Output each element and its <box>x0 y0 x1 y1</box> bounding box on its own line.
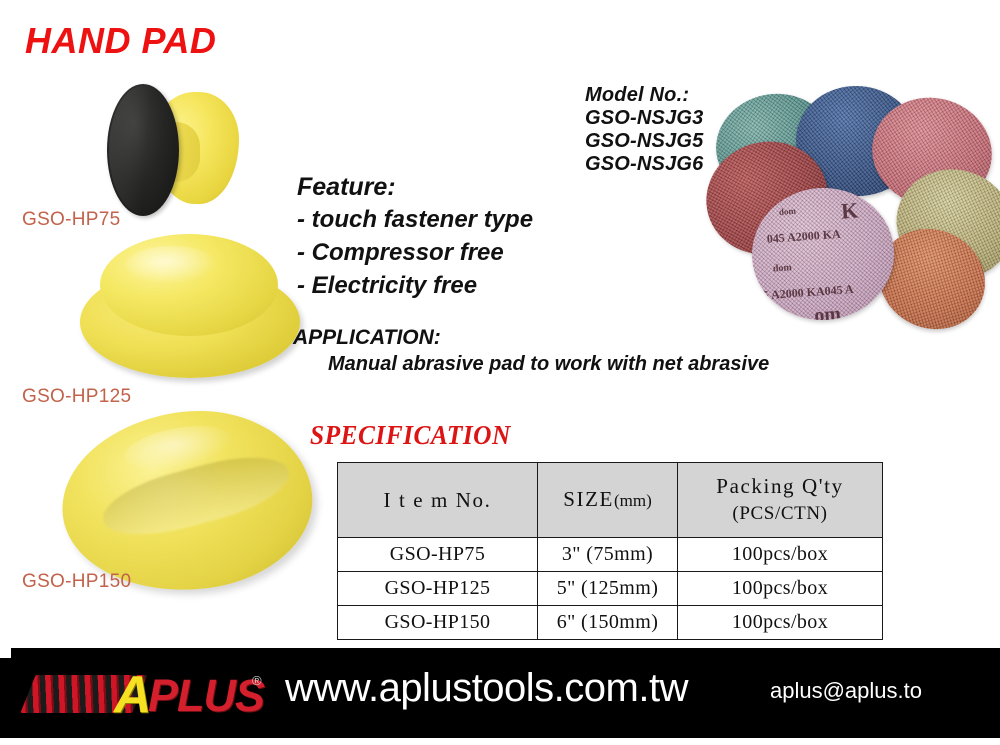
disc-text-1: dom <box>779 206 797 217</box>
model-item-3: GSO-NSJG6 <box>585 153 704 176</box>
cell-size: 3" (75mm) <box>538 538 678 572</box>
disc-text-3: 045 A2000 KA <box>766 227 841 247</box>
product-image-hp150 <box>62 412 312 592</box>
footer-banner: A PLUS ® www.aplustools.com.tw aplus@apl… <box>0 648 1000 738</box>
disc-text-7: K <box>840 197 859 224</box>
cell-size: 5" (125mm) <box>538 572 678 606</box>
model-item-1: GSO-NSJG3 <box>585 107 704 130</box>
disc-text-8: om <box>814 303 842 325</box>
column-header-size-label: SIZE <box>563 487 614 511</box>
table-row: GSO-HP125 5" (125mm) 100pcs/box <box>338 572 883 606</box>
banner-bottom-strip <box>0 738 1000 745</box>
cell-size: 6" (150mm) <box>538 606 678 640</box>
catalog-page: HAND PAD GSO-HP75 GSO-HP125 GSO-HP150 Fe… <box>0 0 1000 745</box>
specification-heading: SPECIFICATION <box>310 420 511 451</box>
logo-letter-a: A <box>114 669 152 721</box>
feature-item-2: - Compressor free <box>297 236 533 269</box>
cell-item-no: GSO-HP125 <box>338 572 538 606</box>
disc-text-4: dom <box>773 262 793 274</box>
product-label-hp75: GSO-HP75 <box>22 209 121 231</box>
column-header-packing: Packing Q'ty (PCS/CTN) <box>678 463 883 538</box>
table-header-row: I t e m No. SIZE(mm) Packing Q'ty (PCS/C… <box>338 463 883 538</box>
model-heading: Model No.: <box>585 84 704 107</box>
pad-gloss-highlight <box>126 246 218 284</box>
table-row: GSO-HP150 6" (150mm) 100pcs/box <box>338 606 883 640</box>
column-header-item-no: I t e m No. <box>338 463 538 538</box>
cell-item-no: GSO-HP75 <box>338 538 538 572</box>
cell-packing: 100pcs/box <box>678 606 883 640</box>
model-item-2: GSO-NSJG5 <box>585 130 704 153</box>
abrasive-discs-image: dom K 045 A2000 KA dom 5 A2000 KA045 A o… <box>700 80 1000 330</box>
column-header-packing-label: Packing Q'ty <box>716 474 843 498</box>
table-row: GSO-HP75 3" (75mm) 100pcs/box <box>338 538 883 572</box>
product-image-hp125 <box>78 232 303 384</box>
page-title: HAND PAD <box>25 20 216 62</box>
website-url[interactable]: www.aplustools.com.tw <box>285 666 688 711</box>
logo-word-plus: PLUS <box>148 673 264 718</box>
product-image-hp75 <box>95 78 245 223</box>
cell-packing: 100pcs/box <box>678 572 883 606</box>
application-body: Manual abrasive pad to work with net abr… <box>293 351 769 378</box>
product-label-hp125: GSO-HP125 <box>22 386 131 408</box>
cell-packing: 100pcs/box <box>678 538 883 572</box>
disc-text-6: 5 A2000 KA045 A <box>762 282 854 303</box>
feature-block: Feature: - touch fastener type - Compres… <box>297 172 533 302</box>
pad-face-highlight <box>109 86 177 214</box>
application-heading: APPLICATION: <box>293 325 769 351</box>
cell-item-no: GSO-HP150 <box>338 606 538 640</box>
aplus-logo: A PLUS ® <box>28 663 268 721</box>
feature-heading: Feature: <box>297 172 533 203</box>
column-header-packing-sub: (PCS/CTN) <box>680 500 880 528</box>
product-label-hp150: GSO-HP150 <box>22 571 131 593</box>
feature-item-1: - touch fastener type <box>297 203 533 236</box>
banner-corner-notch <box>0 648 11 658</box>
column-header-item-no-label: I t e m No. <box>384 488 492 512</box>
model-number-block: Model No.: GSO-NSJG3 GSO-NSJG5 GSO-NSJG6 <box>585 84 704 176</box>
column-header-size: SIZE(mm) <box>538 463 678 538</box>
column-header-size-unit: (mm) <box>614 491 652 510</box>
specification-table: I t e m No. SIZE(mm) Packing Q'ty (PCS/C… <box>337 462 883 640</box>
registered-trademark-icon: ® <box>252 673 262 688</box>
email-address[interactable]: aplus@aplus.to <box>770 678 922 704</box>
application-block: APPLICATION: Manual abrasive pad to work… <box>293 325 769 378</box>
feature-item-3: - Electricity free <box>297 269 533 302</box>
